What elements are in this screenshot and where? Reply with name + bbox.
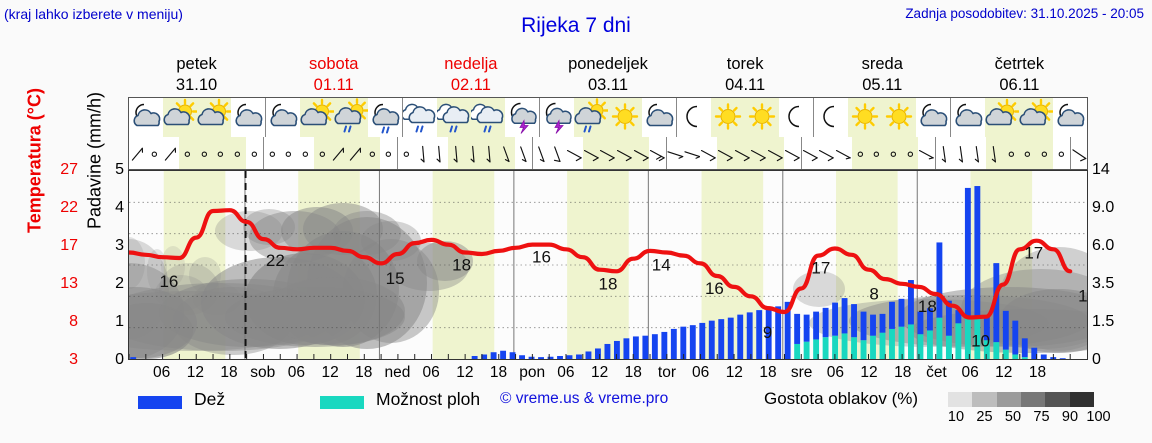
day-date: 04.11 — [677, 75, 814, 96]
day-date: 06.11 — [951, 75, 1088, 96]
svg-text:14: 14 — [652, 255, 671, 274]
cloud-density-step — [1070, 392, 1094, 407]
day-column-4: torek04.11 — [677, 52, 814, 96]
wind-calm-icon — [263, 137, 281, 169]
wind-barb-icon — [818, 137, 835, 169]
wind-barb-icon — [1070, 137, 1088, 169]
copyright-link[interactable]: © vreme.us & vreme.pro — [500, 390, 668, 408]
wind-calm-icon — [229, 137, 246, 169]
wind-barb-icon — [162, 137, 179, 169]
svg-text:15: 15 — [386, 269, 405, 288]
time-axis-label: sob — [250, 364, 275, 382]
moon-cloud-icon — [916, 98, 950, 137]
moon-cloud-icon — [265, 98, 300, 137]
wind-calm-icon — [179, 137, 196, 169]
axis-tick-label: 4 — [76, 199, 124, 217]
sun-icon — [608, 98, 642, 137]
moon-icon — [779, 98, 813, 137]
svg-text:18: 18 — [599, 274, 618, 293]
moon-cloud-drizzle-icon — [368, 98, 402, 137]
day-date: 01.11 — [265, 75, 402, 96]
wind-calm-icon — [297, 137, 314, 169]
time-axis-label: pon — [519, 364, 545, 382]
temperature-axis-ticks: 2722171383 — [30, 170, 78, 360]
time-axis-label: 06 — [288, 364, 305, 382]
axis-tick-label: 3 — [30, 351, 78, 369]
sun-cloud-icon — [985, 98, 1019, 137]
wind-calm-icon — [885, 137, 902, 169]
sun-cloud-icon — [1019, 98, 1053, 137]
moon-cloud-icon — [231, 98, 265, 137]
cloud-density-tick: 25 — [976, 409, 992, 425]
day-name: sreda — [814, 54, 951, 75]
time-axis-label: 06 — [961, 364, 978, 382]
sun-icon — [882, 98, 916, 137]
time-axis-label: 18 — [355, 364, 372, 382]
day-name: četrtek — [951, 54, 1088, 75]
time-axis-label: sre — [791, 364, 813, 382]
sun-cloud-icon — [300, 98, 334, 137]
cloud-drizzle-icon — [437, 98, 471, 137]
time-axis-label: 06 — [692, 364, 709, 382]
svg-text:17: 17 — [811, 259, 830, 278]
wind-calm-icon — [1036, 137, 1053, 169]
wind-barb-icon — [465, 137, 482, 169]
time-axis-label: 06 — [557, 364, 574, 382]
wind-calm-icon — [1019, 137, 1036, 169]
axis-tick-label: 0 — [1092, 351, 1140, 369]
wind-barb-icon — [633, 137, 650, 169]
wind-barb-icon — [684, 137, 701, 169]
wind-barb-icon — [498, 137, 515, 169]
wind-barb-icon — [448, 137, 465, 169]
cloud-density-step — [1045, 392, 1069, 407]
wind-barb-icon — [801, 137, 819, 169]
day-column-3: ponedeljek03.11 — [539, 52, 676, 96]
time-axis-label: 06 — [827, 364, 844, 382]
axis-tick-label: 5 — [76, 161, 124, 179]
axis-tick-label: 14 — [1092, 161, 1140, 179]
time-axis-label: 12 — [321, 364, 338, 382]
day-column-1: sobota01.11 — [265, 52, 402, 96]
time-axis-label: 18 — [894, 364, 911, 382]
time-axis-label: 18 — [1029, 364, 1046, 382]
wind-barb-icon — [835, 137, 852, 169]
day-date: 02.11 — [402, 75, 539, 96]
svg-text:9: 9 — [763, 323, 772, 342]
day-name: torek — [677, 54, 814, 75]
axis-tick-label: 3.5 — [1092, 275, 1140, 293]
day-column-2: nedelja02.11 — [402, 52, 539, 96]
time-axis-label: 12 — [726, 364, 743, 382]
wind-calm-icon — [196, 137, 213, 169]
wind-barb-icon — [734, 137, 751, 169]
svg-text:18: 18 — [918, 297, 937, 316]
wind-barb-icon — [599, 137, 616, 169]
cloud-density-tick: 90 — [1062, 409, 1078, 425]
cloud-drizzle-icon — [402, 98, 437, 137]
wind-barb-icon — [129, 137, 146, 169]
wind-barb-icon — [767, 137, 784, 169]
wind-calm-icon — [1003, 137, 1020, 169]
wind-calm-icon — [380, 137, 397, 169]
rain-legend-swatch — [138, 396, 182, 409]
svg-text:8: 8 — [869, 285, 878, 304]
time-axis-label: 06 — [423, 364, 440, 382]
wind-barb-icon — [666, 137, 684, 169]
axis-tick-label: 1.5 — [1092, 313, 1140, 331]
svg-text:22: 22 — [266, 251, 285, 270]
day-date: 03.11 — [539, 75, 676, 96]
axis-tick-label: 9.0 — [1092, 199, 1140, 217]
axis-tick-label: 6.0 — [1092, 237, 1140, 255]
wind-calm-icon — [902, 137, 919, 169]
day-date: 31.10 — [128, 75, 265, 96]
time-axis-label: ned — [385, 364, 411, 382]
wind-barb-icon — [784, 137, 801, 169]
svg-text:10: 10 — [971, 332, 990, 351]
day-date: 05.11 — [814, 75, 951, 96]
wind-barb-icon — [918, 137, 935, 169]
wind-barb-row — [128, 137, 1088, 170]
rain-legend-label: Dež — [194, 389, 225, 410]
svg-text:17: 17 — [1024, 244, 1043, 263]
wind-barb-icon — [330, 137, 347, 169]
weather-icon-row — [128, 97, 1088, 137]
wind-calm-icon — [314, 137, 331, 169]
moon-cloud-icon — [642, 98, 676, 137]
cloud-density-ramp-ticks: 1025507590100 — [938, 409, 1108, 427]
time-axis-label: 06 — [153, 364, 170, 382]
day-column-0: petek31.10 — [128, 52, 265, 96]
cloud-density-tick: 10 — [948, 409, 964, 425]
day-header-strip: petek31.10sobota01.11nedelja02.11ponedel… — [128, 52, 1088, 96]
day-name: petek — [128, 54, 265, 75]
axis-tick-label: 22 — [30, 199, 78, 217]
moon-cloud-icon — [129, 98, 163, 137]
svg-text:16: 16 — [705, 279, 724, 298]
shower-legend-label: Možnost ploh — [376, 389, 480, 410]
svg-text:11: 11 — [1078, 286, 1087, 305]
axis-tick-label: 17 — [30, 237, 78, 255]
time-axis-label: 18 — [625, 364, 642, 382]
axis-tick-label: 3 — [76, 237, 124, 255]
wind-barb-icon — [935, 137, 953, 169]
time-axis-label: 18 — [490, 364, 507, 382]
cloud-density-step — [972, 392, 996, 407]
sun-icon — [745, 98, 779, 137]
wind-barb-icon — [750, 137, 767, 169]
wind-barb-icon — [953, 137, 970, 169]
sun-cloud-icon — [163, 98, 197, 137]
axis-tick-label: 27 — [30, 161, 78, 179]
day-column-6: četrtek06.11 — [951, 52, 1088, 96]
wind-barb-icon — [415, 137, 432, 169]
cloud-density-tick: 75 — [1033, 409, 1049, 425]
moon-icon — [676, 98, 711, 137]
wind-calm-icon — [1053, 137, 1070, 169]
time-axis-label: 12 — [591, 364, 608, 382]
wind-calm-icon — [868, 137, 885, 169]
day-name: nedelja — [402, 54, 539, 75]
wind-barb-icon — [347, 137, 364, 169]
precipitation-axis-ticks: 543210 — [76, 170, 124, 360]
moon-cloud-icon — [1053, 98, 1087, 137]
wind-calm-icon — [280, 137, 297, 169]
time-axis-label: 18 — [759, 364, 776, 382]
wind-calm-icon — [212, 137, 229, 169]
time-axis: 061218sob061218ned061218pon061218tor0612… — [128, 361, 1088, 387]
cloud-density-step — [997, 392, 1021, 407]
moon-icon — [813, 98, 848, 137]
axis-tick-label: 2 — [76, 275, 124, 293]
time-axis-label: 12 — [187, 364, 204, 382]
wind-calm-icon — [364, 137, 381, 169]
last-update-label: Zadnja posodobitev: 31.10.2025 - 20:05 — [905, 6, 1144, 21]
wind-barb-icon — [616, 137, 633, 169]
wind-barb-icon — [649, 137, 666, 169]
cloud-density-step — [948, 392, 972, 407]
wind-calm-icon — [852, 137, 869, 169]
day-column-5: sreda05.11 — [814, 52, 951, 96]
sun-cloud-icon — [197, 98, 231, 137]
wind-barb-icon — [532, 137, 550, 169]
wind-calm-icon — [397, 137, 415, 169]
time-axis-label: 12 — [995, 364, 1012, 382]
sun-icon — [848, 98, 882, 137]
wind-barb-icon — [986, 137, 1003, 169]
cloud-density-tick: 100 — [1086, 409, 1110, 425]
wind-calm-icon — [146, 137, 163, 169]
cloud-density-color-ramp — [948, 392, 1094, 407]
shower-legend-swatch — [320, 396, 364, 409]
axis-tick-label: 13 — [30, 275, 78, 293]
wind-barb-icon — [969, 137, 986, 169]
moon-cloud-storm-icon — [539, 98, 574, 137]
moon-cloud-icon — [950, 98, 985, 137]
cloud-density-step — [1021, 392, 1045, 407]
day-name: ponedeljek — [539, 54, 676, 75]
time-axis-label: 12 — [456, 364, 473, 382]
wind-barb-icon — [515, 137, 532, 169]
time-axis-label: tor — [658, 364, 676, 382]
wind-barb-icon — [431, 137, 448, 169]
time-axis-label: 12 — [860, 364, 877, 382]
cloud-drizzle-icon — [471, 98, 505, 137]
cloud-density-tick: 50 — [1005, 409, 1021, 425]
axis-tick-label: 1 — [76, 313, 124, 331]
wind-barb-icon — [549, 137, 566, 169]
wind-barb-icon — [700, 137, 717, 169]
svg-text:18: 18 — [452, 255, 471, 274]
wind-calm-icon — [246, 137, 263, 169]
wind-barb-icon — [583, 137, 600, 169]
forecast-plot-area: 1622151816181416917818101711 — [128, 170, 1088, 360]
time-axis-label: 18 — [220, 364, 237, 382]
cloud-density-legend-label: Gostota oblakov (%) — [764, 389, 918, 409]
svg-text:16: 16 — [532, 248, 551, 267]
time-axis-label: čet — [926, 364, 947, 382]
sun-cloud-drizzle-icon — [334, 98, 368, 137]
cloud-height-axis-ticks: 149.06.03.51.50 — [1092, 170, 1140, 360]
sun-cloud-drizzle-icon — [574, 98, 608, 137]
wind-barb-icon — [717, 137, 734, 169]
wind-barb-icon — [566, 137, 583, 169]
axis-tick-label: 8 — [30, 313, 78, 331]
day-name: sobota — [265, 54, 402, 75]
axis-tick-label: 0 — [76, 351, 124, 369]
svg-text:16: 16 — [159, 272, 178, 291]
sun-icon — [711, 98, 745, 137]
moon-cloud-storm-icon — [505, 98, 539, 137]
chart-legend: Dež Možnost ploh © vreme.us & vreme.pro … — [118, 389, 1152, 435]
wind-barb-icon — [481, 137, 498, 169]
